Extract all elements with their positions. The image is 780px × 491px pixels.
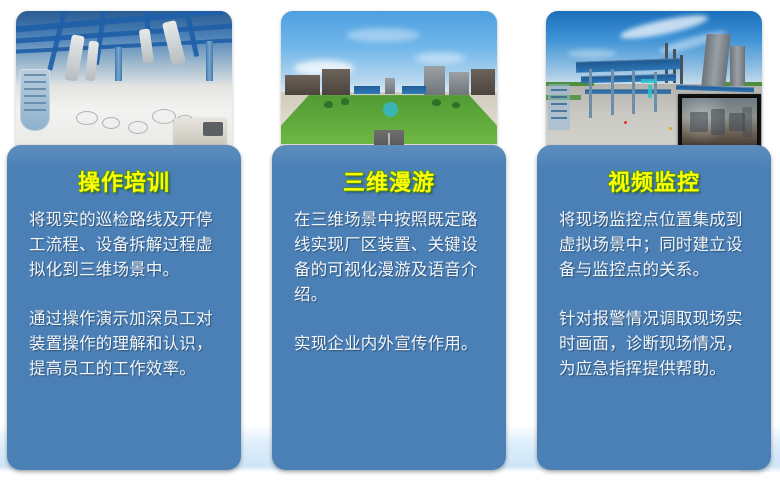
thumbnail-three-dimensional-roaming[interactable] <box>281 11 497 156</box>
paragraph: 在三维场景中按照既定路线实现厂区装置、关键设备的可视化漫游及语音介绍。 <box>294 207 492 307</box>
panel-video-surveillance[interactable]: 视频监控 将现场监控点位置集成到虚拟场景中；同时建立设备与监控点的关系。 针对报… <box>537 11 771 470</box>
paragraph: 实现企业内外宣传作用。 <box>294 331 492 356</box>
card-body: 将现实的巡检路线及开停工流程、设备拆解过程虚拟化到三维场景中。 通过操作演示加深… <box>29 207 227 381</box>
card-title: 视频监控 <box>537 165 771 197</box>
paragraph: 通过操作演示加深员工对装置操作的理解和认识，提高员工的工作效率。 <box>29 306 227 381</box>
card-three-dimensional-roaming[interactable]: 三维漫游 在三维场景中按照既定路线实现厂区装置、关键设备的可视化漫游及语音介绍。… <box>272 145 506 470</box>
panel-three-dimensional-roaming[interactable]: 三维漫游 在三维场景中按照既定路线实现厂区装置、关键设备的可视化漫游及语音介绍。… <box>272 11 506 470</box>
paragraph: 将现实的巡检路线及开停工流程、设备拆解过程虚拟化到三维场景中。 <box>29 207 227 282</box>
scene-indoor-pipe-rack <box>16 11 232 156</box>
card-title: 操作培训 <box>7 165 241 197</box>
paragraph: 针对报警情况调取现场实时画面，诊断现场情况，为应急指挥提供帮助。 <box>559 306 757 381</box>
card-body: 在三维场景中按照既定路线实现厂区装置、关键设备的可视化漫游及语音介绍。 实现企业… <box>294 207 492 356</box>
slide-canvas: 操作培训 将现实的巡检路线及开停工流程、设备拆解过程虚拟化到三维场景中。 通过操… <box>0 0 780 491</box>
thumbnail-video-surveillance[interactable] <box>546 11 762 156</box>
thumbnail-operation-training[interactable] <box>16 11 232 156</box>
card-video-surveillance[interactable]: 视频监控 将现场监控点位置集成到虚拟场景中；同时建立设备与监控点的关系。 针对报… <box>537 145 771 470</box>
paragraph: 将现场监控点位置集成到虚拟场景中；同时建立设备与监控点的关系。 <box>559 207 757 282</box>
scene-outdoor-lawn-road <box>281 11 497 156</box>
card-body: 将现场监控点位置集成到虚拟场景中；同时建立设备与监控点的关系。 针对报警情况调取… <box>559 207 757 381</box>
card-operation-training[interactable]: 操作培训 将现实的巡检路线及开停工流程、设备拆解过程虚拟化到三维场景中。 通过操… <box>7 145 241 470</box>
panel-operation-training[interactable]: 操作培训 将现实的巡检路线及开停工流程、设备拆解过程虚拟化到三维场景中。 通过操… <box>7 11 241 470</box>
card-title: 三维漫游 <box>272 165 506 197</box>
scene-outdoor-plant-camera <box>546 11 762 156</box>
